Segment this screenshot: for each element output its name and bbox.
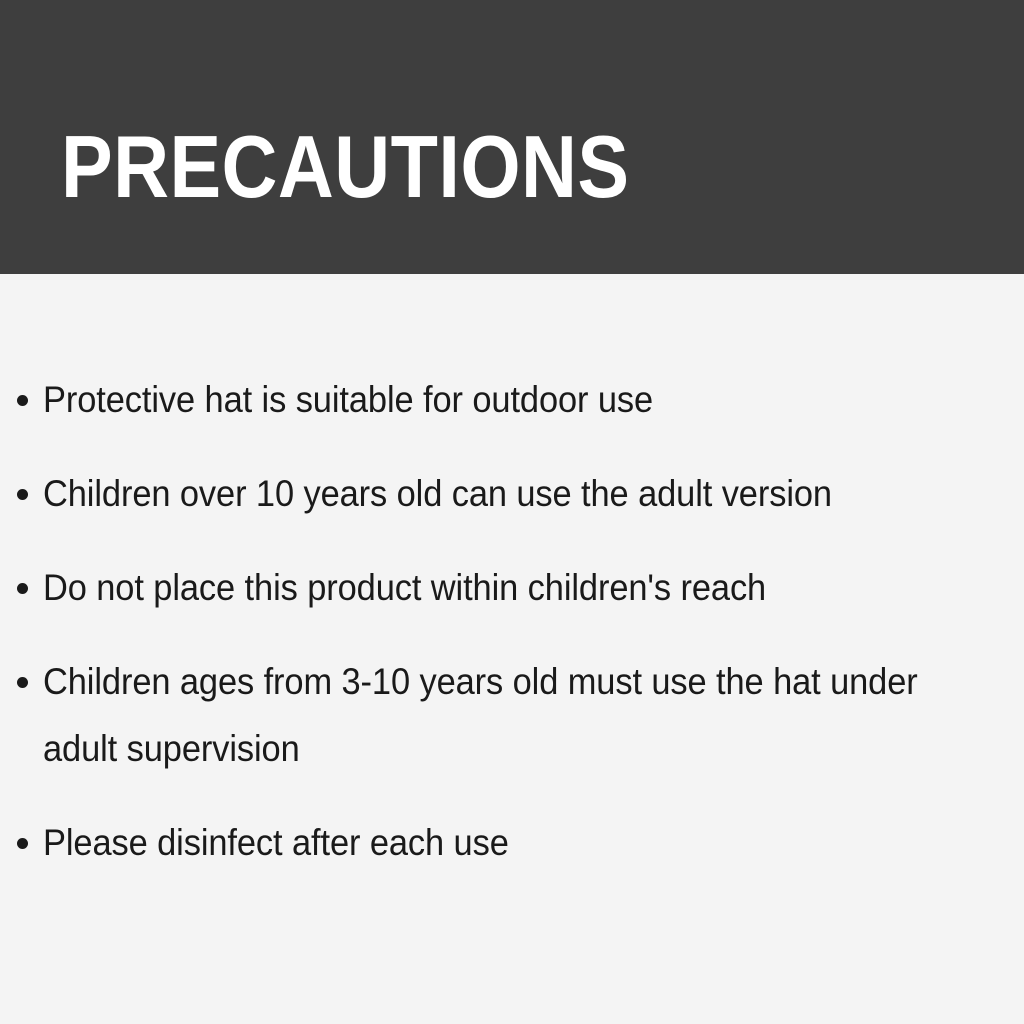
list-item: Children ages from 3-10 years old must u…: [0, 648, 1024, 782]
list-item: Do not place this product within childre…: [0, 554, 1024, 621]
precautions-list: Protective hat is suitable for outdoor u…: [0, 366, 1024, 876]
list-item-label: Do not place this product within childre…: [43, 554, 948, 621]
bullet-point-icon: [17, 489, 28, 500]
header-banner: PRECAUTIONS: [0, 0, 1024, 274]
list-item: Children over 10 years old can use the a…: [0, 460, 1024, 527]
list-item: Protective hat is suitable for outdoor u…: [0, 366, 1024, 433]
list-item-label: Please disinfect after each use: [43, 809, 948, 876]
bullet-point-icon: [17, 677, 28, 688]
list-item-label: Children over 10 years old can use the a…: [43, 460, 948, 527]
bullet-point-icon: [17, 838, 28, 849]
precautions-page: PRECAUTIONS Protective hat is suitable f…: [0, 0, 1024, 1024]
list-item-label: Protective hat is suitable for outdoor u…: [43, 366, 948, 433]
list-item-label: Children ages from 3-10 years old must u…: [43, 648, 948, 782]
bullet-point-icon: [17, 395, 28, 406]
page-title: PRECAUTIONS: [61, 119, 629, 215]
list-item: Please disinfect after each use: [0, 809, 1024, 876]
bullet-point-icon: [17, 583, 28, 594]
